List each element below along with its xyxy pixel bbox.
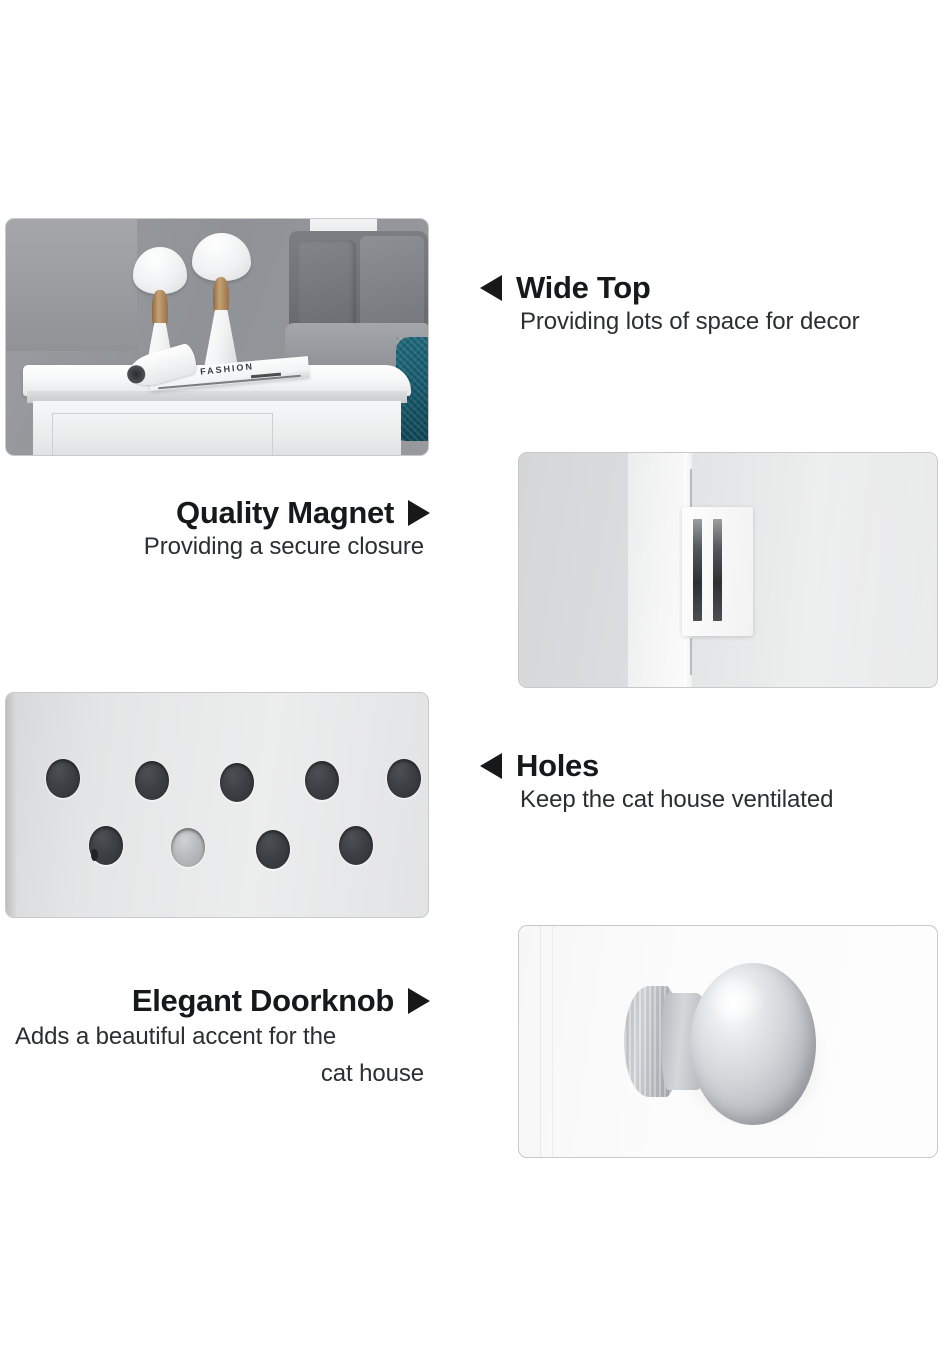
table-body	[33, 401, 400, 455]
door-gap-bottom	[690, 638, 692, 675]
feature-text-wide-top: Wide Top Providing lots of space for dec…	[480, 272, 930, 339]
lamp-shade	[133, 247, 188, 294]
panel-left-edge	[6, 693, 16, 917]
vent-hole	[256, 830, 290, 869]
feature-text-elegant-doorknob: Elegant Doorknob Adds a beautiful accent…	[15, 985, 430, 1092]
table-panel-line-left	[52, 413, 53, 455]
doorknob-photo	[518, 925, 938, 1158]
headline-label: Elegant Doorknob	[132, 985, 394, 1018]
feature-headline-elegant-doorknob: Elegant Doorknob	[15, 985, 430, 1018]
door-seam-outer	[540, 926, 542, 1157]
magnet-metal-strip-left	[693, 519, 702, 622]
door-gap-top	[690, 469, 692, 506]
feature-subtitle-elegant-doorknob-line-1: Adds a beautiful accent for the	[15, 1018, 430, 1055]
side-table-with-lamps-photo: FASHION	[5, 218, 429, 456]
headline-label: Holes	[516, 750, 599, 783]
feature-subtitle-quality-magnet: Providing a secure closure	[60, 530, 430, 564]
vent-hole	[89, 826, 123, 865]
triangle-left-icon	[480, 753, 502, 779]
vent-hole-light	[171, 828, 205, 867]
feature-text-quality-magnet: Quality Magnet Providing a secure closur…	[60, 497, 430, 564]
headline-label: Quality Magnet	[176, 497, 394, 530]
wall-highlight	[6, 219, 137, 351]
door-seam-inner	[552, 926, 553, 1157]
vent-hole	[220, 763, 254, 802]
table-panel-line-right	[272, 413, 273, 455]
feature-headline-quality-magnet: Quality Magnet	[60, 497, 430, 530]
sofa-cushion-left	[299, 240, 356, 327]
vent-hole	[46, 759, 80, 798]
feature-subtitle-elegant-doorknob-line-2: cat house	[15, 1055, 430, 1092]
triangle-left-icon	[480, 275, 502, 301]
knob-highlight	[707, 975, 766, 1026]
vent-hole	[387, 759, 421, 798]
table-panel-line-horizontal	[52, 413, 271, 414]
triangle-right-icon	[408, 988, 430, 1014]
vent-hole	[305, 761, 339, 800]
feature-text-holes: Holes Keep the cat house ventilated	[480, 750, 930, 817]
candlestick-lamp-right	[192, 233, 251, 365]
cabinet-door-face	[628, 453, 687, 687]
cabinet-side-panel	[519, 453, 628, 687]
infographic-canvas: FASHION Wide Top Providing lots of space…	[0, 0, 945, 1367]
magnetic-closure-photo	[518, 452, 938, 688]
feature-headline-wide-top: Wide Top	[480, 272, 930, 305]
magnet-metal-strip-right	[713, 519, 722, 622]
feature-subtitle-holes: Keep the cat house ventilated	[480, 783, 930, 817]
triangle-right-icon	[408, 500, 430, 526]
lamp-base	[204, 310, 238, 368]
vent-hole	[339, 826, 373, 865]
headline-label: Wide Top	[516, 272, 651, 305]
feature-subtitle-wide-top: Providing lots of space for decor	[480, 305, 930, 339]
feature-headline-holes: Holes	[480, 750, 930, 783]
lamp-shade	[192, 233, 251, 281]
vent-hole	[135, 761, 169, 800]
sofa-cushion-right	[360, 236, 423, 328]
ventilation-holes-photo	[5, 692, 429, 918]
